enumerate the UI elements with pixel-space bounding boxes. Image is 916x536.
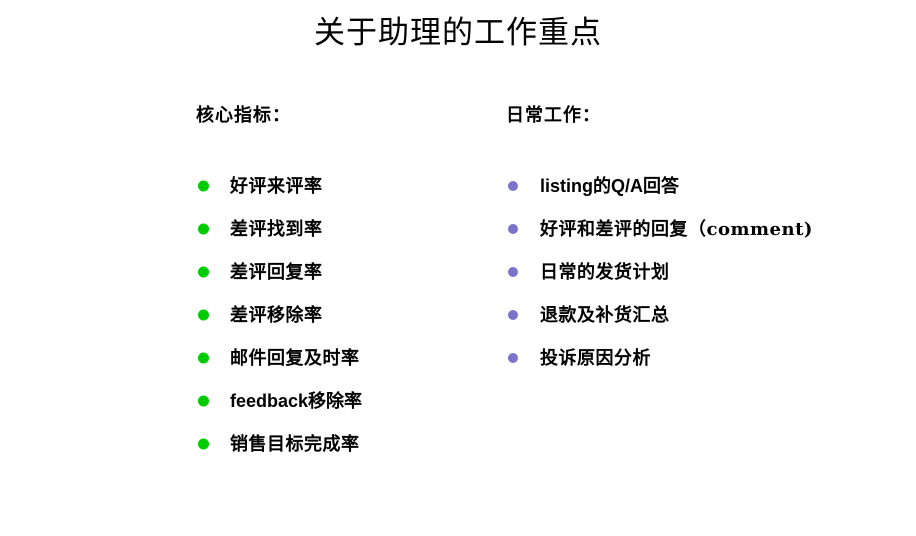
column-heading-core-metrics: 核心指标： <box>196 104 494 128</box>
list-item-label: 邮件回复及时率 <box>230 348 360 369</box>
list-item-label: 差评找到率 <box>230 219 323 240</box>
bullet-dot-icon <box>198 438 209 449</box>
slide-canvas: 关于助理的工作重点 核心指标： 好评来评率 差评找到率 差评回复率 <box>0 0 916 536</box>
bullet-dot-icon <box>508 353 518 363</box>
list-item-label: listing的Q/A回答 <box>540 176 679 196</box>
core-metrics-list: 好评来评率 差评找到率 差评回复率 差评移除率 邮件回复及时率 <box>194 164 494 465</box>
column-core-metrics: 核心指标： 好评来评率 差评找到率 差评回复率 差评移除率 <box>194 104 494 128</box>
list-item[interactable]: 投诉原因分析 <box>504 336 904 379</box>
bullet-dot-icon <box>508 181 518 191</box>
list-item[interactable]: 好评来评率 <box>194 164 494 207</box>
list-item-label: 退款及补货汇总 <box>540 305 670 326</box>
content-columns: 核心指标： 好评来评率 差评找到率 差评回复率 差评移除率 <box>0 104 916 504</box>
bullet-dot-icon <box>508 224 518 234</box>
list-item-label: 差评回复率 <box>230 262 323 283</box>
bullet-dot-icon <box>508 267 518 277</box>
list-item-label: 好评和差评的回复（comment) <box>540 219 813 240</box>
list-item-label: 差评移除率 <box>230 305 323 326</box>
list-item[interactable]: 销售目标完成率 <box>194 422 494 465</box>
list-item-label: 投诉原因分析 <box>540 348 651 369</box>
bullet-dot-icon <box>198 180 209 191</box>
bullet-dot-icon <box>198 395 209 406</box>
column-heading-daily-work: 日常工作： <box>506 104 904 128</box>
list-item[interactable]: 退款及补货汇总 <box>504 293 904 336</box>
daily-work-list: listing的Q/A回答 好评和差评的回复（comment) 日常的发货计划 … <box>504 164 904 379</box>
list-item[interactable]: 邮件回复及时率 <box>194 336 494 379</box>
list-item-label: 好评来评率 <box>230 176 323 197</box>
bullet-dot-icon <box>508 310 518 320</box>
page-title: 关于助理的工作重点 <box>0 14 916 52</box>
bullet-dot-icon <box>198 266 209 277</box>
list-item[interactable]: 差评回复率 <box>194 250 494 293</box>
column-daily-work: 日常工作： listing的Q/A回答 好评和差评的回复（comment) 日常… <box>504 104 904 128</box>
list-item-label: 日常的发货计划 <box>540 262 670 283</box>
bullet-dot-icon <box>198 309 209 320</box>
list-item[interactable]: 日常的发货计划 <box>504 250 904 293</box>
list-item[interactable]: 差评移除率 <box>194 293 494 336</box>
bullet-dot-icon <box>198 223 209 234</box>
list-item[interactable]: feedback移除率 <box>194 379 494 422</box>
list-item[interactable]: 好评和差评的回复（comment) <box>504 207 904 250</box>
list-item-label: 销售目标完成率 <box>230 434 360 455</box>
list-item[interactable]: 差评找到率 <box>194 207 494 250</box>
bullet-dot-icon <box>198 352 209 363</box>
list-item-label: feedback移除率 <box>230 391 362 411</box>
list-item[interactable]: listing的Q/A回答 <box>504 164 904 207</box>
